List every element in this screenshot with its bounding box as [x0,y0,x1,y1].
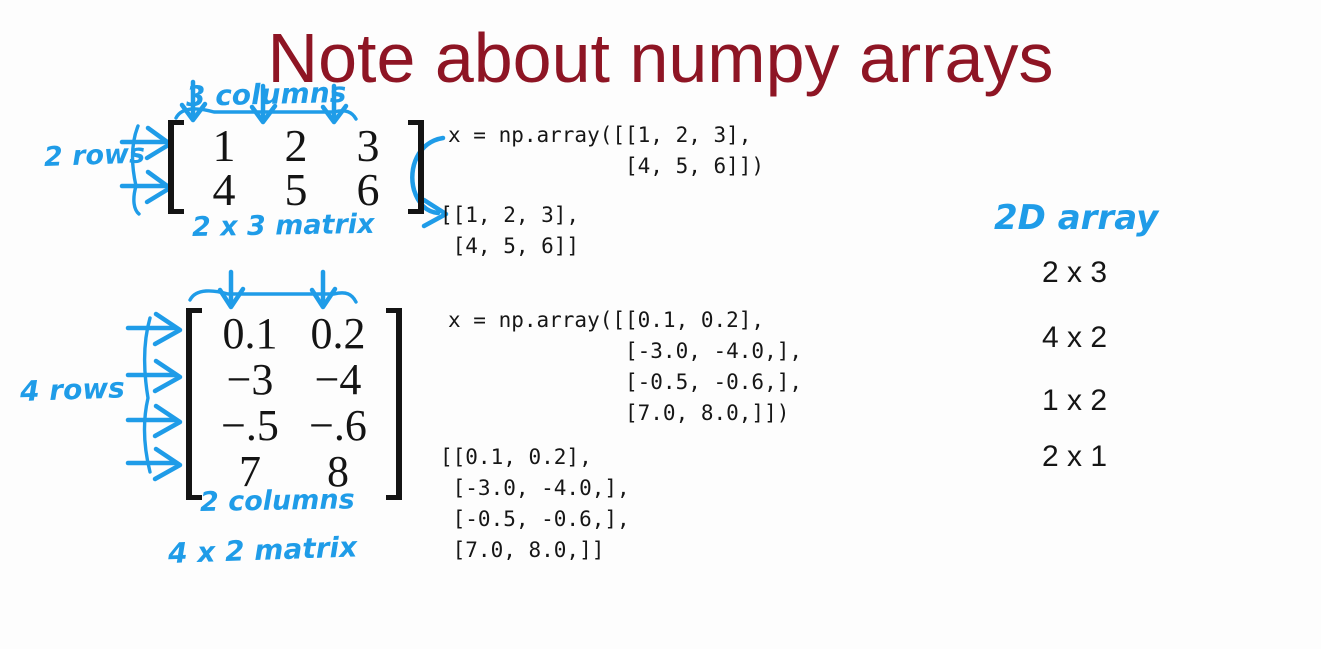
matrix-cell: 1 [188,123,260,167]
shape-item: 2 x 3 [1042,256,1107,290]
shapes-header-2d-array: 2D array [994,198,1158,238]
matrix-b-rows-arrows [128,314,180,479]
matrix-row: 4 5 6 [188,167,404,211]
matrix-body: 1 2 3 4 5 6 [184,120,408,214]
code-output-2x3: [[1, 2, 3], [4, 5, 6]] [440,200,579,262]
code-snippet-2x3: x = np.array([[1, 2, 3], [4, 5, 6]]) [448,120,764,182]
annotation-2-rows: 2 rows [43,138,145,173]
annotation-4x2-matrix-caption: 4 x 2 matrix [167,530,357,570]
matrix-row: 1 2 3 [188,123,404,167]
annotation-4-rows: 4 rows [19,371,125,408]
matrix-right-bracket [408,120,424,214]
matrix-left-bracket [186,308,202,500]
shape-item: 1 x 2 [1042,384,1107,418]
matrix-cell: −3 [206,358,294,404]
code-snippet-4x2: x = np.array([[0.1, 0.2], [-3.0, -4.0,],… [448,305,802,429]
matrix-2x3: 1 2 3 4 5 6 [168,120,424,214]
matrix-cell: −4 [294,358,382,404]
matrix-cell: 0.2 [294,312,382,358]
matrix-cell: −.6 [294,404,382,450]
matrix-right-bracket [386,308,402,500]
matrix-b-columns-brace [190,272,356,307]
matrix-cell: 2 [260,123,332,167]
matrix-cell: 4 [188,167,260,211]
code-output-4x2: [[0.1, 0.2], [-3.0, -4.0,], [-0.5, -0.6,… [440,442,630,566]
matrix-left-bracket [168,120,184,214]
shape-item: 4 x 2 [1042,321,1107,355]
matrix-cell: 5 [260,167,332,211]
annotation-3-columns: 3 columns [186,76,347,113]
matrix-body: 0.1 0.2 −3 −4 −.5 −.6 7 8 [202,308,386,500]
matrix-cell: 6 [332,167,404,211]
matrix-row: −.5 −.6 [206,404,382,450]
shape-item: 2 x 1 [1042,440,1107,474]
matrix-row: −3 −4 [206,358,382,404]
matrix-row: 0.1 0.2 [206,312,382,358]
annotation-2-columns: 2 columns [200,484,355,518]
matrix-cell: 3 [332,123,404,167]
matrix-cell: 0.1 [206,312,294,358]
matrix-4x2: 0.1 0.2 −3 −4 −.5 −.6 7 8 [186,308,402,500]
annotation-2x3-matrix-caption: 2 x 3 matrix [192,209,375,243]
matrix-cell: −.5 [206,404,294,450]
